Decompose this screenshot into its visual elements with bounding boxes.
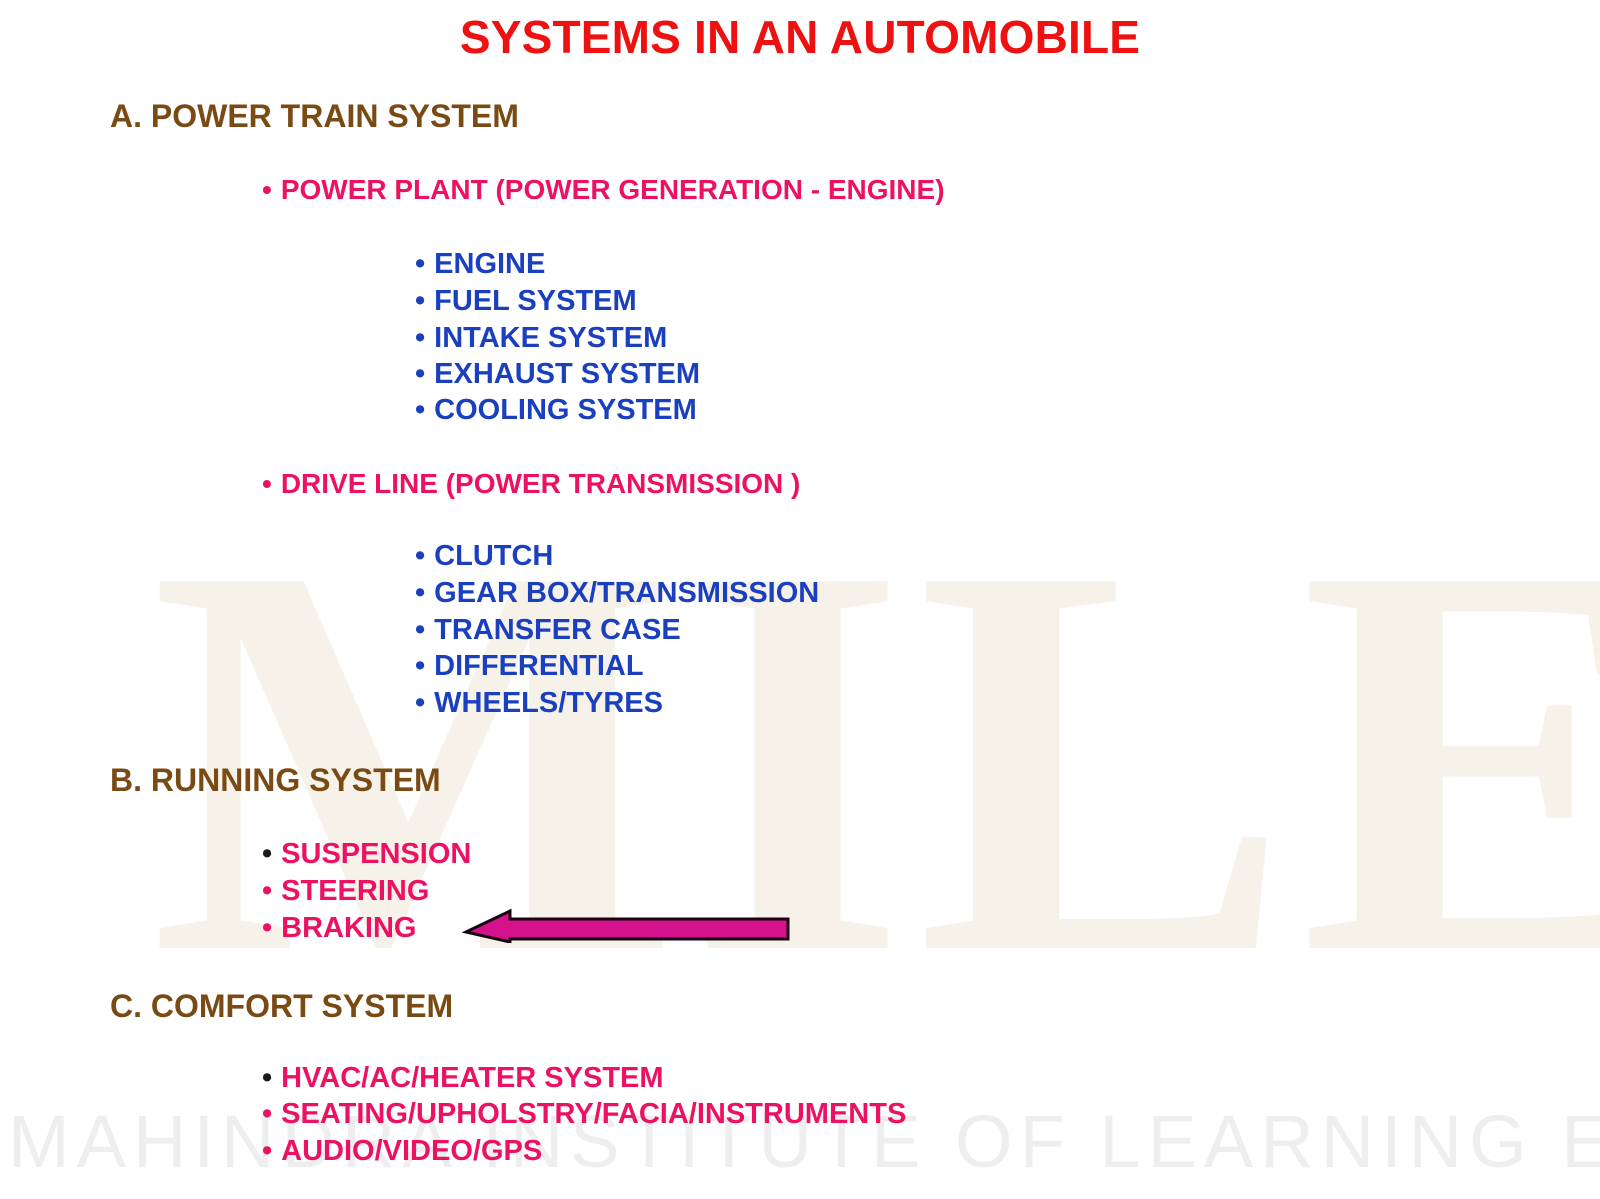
bullet-icon: • [262,838,272,871]
list-item-braking: • BRAKING [262,912,417,945]
list-item-label: SEATING/UPHOLSTRY/FACIA/INSTRUMENTS [281,1098,906,1131]
slide-title: SYSTEMS IN AN AUTOMOBILE [0,10,1600,64]
list-item-label: ENGINE [434,248,545,281]
group-label-text: POWER PLANT (POWER GENERATION - ENGINE) [281,174,945,206]
list-item-wheels-tyres: • WHEELS/TYRES [415,687,663,720]
section-heading-comfort: C. COMFORT SYSTEM [110,988,453,1025]
list-item-audio-video-gps: • AUDIO/VIDEO/GPS [262,1135,542,1168]
list-item-cooling-system: • COOLING SYSTEM [415,394,697,427]
list-item-label: GEAR BOX/TRANSMISSION [434,577,819,610]
bullet-icon: • [262,912,272,945]
list-item-label: DIFFERENTIAL [434,650,643,683]
bullet-icon: • [415,248,425,281]
bullet-icon: • [415,394,425,427]
section-heading-running: B. RUNNING SYSTEM [110,762,441,799]
list-item-label: AUDIO/VIDEO/GPS [281,1135,542,1168]
list-item-intake-system: • INTAKE SYSTEM [415,322,667,355]
bullet-icon: • [262,1098,272,1131]
list-item-label: STEERING [281,875,429,908]
bullet-icon: • [262,1135,272,1168]
list-item-label: SUSPENSION [281,838,471,871]
list-item-exhaust-system: • EXHAUST SYSTEM [415,358,700,391]
bullet-icon: • [415,540,425,573]
list-item-fuel-system: • FUEL SYSTEM [415,285,637,318]
bullet-icon: • [262,468,272,500]
group-label-text: DRIVE LINE (POWER TRANSMISSION ) [281,468,801,500]
bullet-icon: • [415,577,425,610]
bullet-icon: • [415,285,425,318]
list-item-label: CLUTCH [434,540,553,573]
list-item-label: BRAKING [281,912,416,945]
list-item-hvac: • HVAC/AC/HEATER SYSTEM [262,1062,664,1095]
list-item-transfer-case: • TRANSFER CASE [415,614,681,647]
list-item-steering: • STEERING [262,875,429,908]
list-item-label: INTAKE SYSTEM [434,322,667,355]
bullet-icon: • [415,322,425,355]
bullet-icon: • [415,687,425,720]
bullet-icon: • [415,358,425,391]
list-item-label: WHEELS/TYRES [434,687,663,720]
list-item-label: FUEL SYSTEM [434,285,637,318]
list-item-gear-box: • GEAR BOX/TRANSMISSION [415,577,819,610]
bullet-icon: • [262,1062,272,1095]
group-label-drive-line: • DRIVE LINE (POWER TRANSMISSION ) [262,468,800,500]
list-item-label: EXHAUST SYSTEM [434,358,700,391]
bullet-icon: • [262,174,272,206]
list-item-label: HVAC/AC/HEATER SYSTEM [281,1062,663,1095]
bullet-icon: • [415,614,425,647]
section-heading-power-train: A. POWER TRAIN SYSTEM [110,98,519,135]
list-item-label: TRANSFER CASE [434,614,681,647]
list-item-engine: • ENGINE [415,248,545,281]
bullet-icon: • [262,875,272,908]
group-label-power-plant: • POWER PLANT (POWER GENERATION - ENGINE… [262,174,945,206]
braking-highlight-arrow-icon [462,897,792,943]
list-item-suspension: • SUSPENSION [262,838,471,871]
list-item-label: COOLING SYSTEM [434,394,697,427]
list-item-seating: • SEATING/UPHOLSTRY/FACIA/INSTRUMENTS [262,1098,906,1131]
bullet-icon: • [415,650,425,683]
slide-content: SYSTEMS IN AN AUTOMOBILE A. POWER TRAIN … [0,0,1600,1199]
list-item-clutch: • CLUTCH [415,540,553,573]
list-item-differential: • DIFFERENTIAL [415,650,644,683]
